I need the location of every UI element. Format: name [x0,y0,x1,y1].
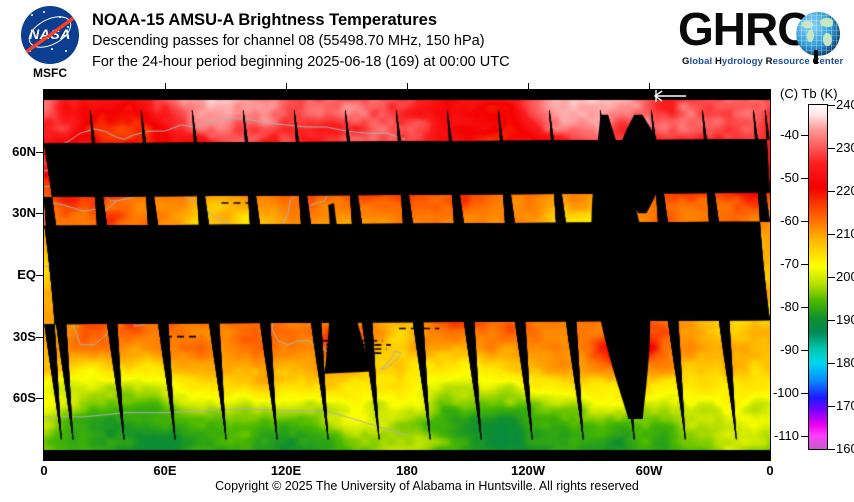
lon-tick [649,83,650,90]
colorbar-label-k-170: 170 [836,398,854,413]
colorbar-label-c--70: -70 [769,256,799,271]
nasa-logo: NASA MSFC [13,6,85,84]
nasa-center-label: MSFC [13,66,87,80]
page-title: NOAA-15 AMSU-A Brightness Temperatures [92,10,652,31]
colorbar-header: (C) Tb (K) [780,86,838,101]
colorbar-label-k-210: 210 [836,226,854,241]
ghrc-logo: GHRC Global Hydrology Resource Center [678,4,846,76]
colorbar-tick-kelvin [828,363,835,364]
colorbar-label-k-200: 200 [836,269,854,284]
nasa-meatball-icon: NASA [21,6,79,64]
lat-tick [36,398,43,399]
lat-label-60S: 60S [0,390,36,405]
colorbar-tick-kelvin [828,234,835,235]
colorbar-tick-kelvin [828,148,835,149]
colorbar-tick-celsius [801,436,808,437]
colorbar-tick-kelvin [828,277,835,278]
colorbar-label-k-180: 180 [836,355,854,370]
lat-tick [36,275,43,276]
lon-label-0: 0 [766,463,773,478]
colorbar-label-c--100: -100 [769,385,799,400]
copyright-notice: Copyright © 2025 The University of Alaba… [0,479,854,493]
colorbar-tick-kelvin [828,191,835,192]
brightness-temperature-map[interactable] [44,90,770,460]
colorbar-label-c--110: -110 [769,428,799,443]
lon-label-120E: 120E [271,463,301,478]
screenshot-root: NASA MSFC NOAA-15 AMSU-A Brightness Temp… [0,0,854,502]
lon-tick [407,83,408,90]
colorbar-tick-celsius [801,178,808,179]
colorbar-label-k-160: 160 [836,441,854,456]
lon-label-120W: 120W [511,463,545,478]
map-raster [44,90,770,460]
lon-tick [165,83,166,90]
colorbar-label-c--50: -50 [769,170,799,185]
colorbar-tick-celsius [801,393,808,394]
colorbar-label-c--90: -90 [769,342,799,357]
colorbar-tick-celsius [801,264,808,265]
nasa-swoosh-icon [21,10,79,60]
lat-label-60N: 60N [0,144,36,159]
lat-label-30S: 30S [0,329,36,344]
subtitle-period: For the 24-hour period beginning 2025-06… [92,52,652,73]
lon-label-60E: 60E [153,463,176,478]
lon-label-0: 0 [40,463,47,478]
colorbar-label-c--60: -60 [769,213,799,228]
lon-label-60W: 60W [636,463,663,478]
colorbar-label-k-220: 220 [836,183,854,198]
colorbar-tick-celsius [801,221,808,222]
title-block: NOAA-15 AMSU-A Brightness Temperatures D… [92,10,652,73]
colorbar-tick-celsius [801,350,808,351]
colorbar-label-k-240: 240 [836,97,854,112]
lat-label-EQ: EQ [0,267,36,282]
ghrc-wordmark: GHRC [678,4,809,54]
colorbar-label-k-230: 230 [836,140,854,155]
lon-tick [528,83,529,90]
lon-label-180: 180 [396,463,418,478]
colorbar-tick-kelvin [828,406,835,407]
colorbar-tick-celsius [801,135,808,136]
lat-tick [36,213,43,214]
colorbar-tick-kelvin [828,105,835,106]
ghrc-subtitle: Global Hydrology Resource Center [682,56,846,67]
colorbar-tick-kelvin [828,449,835,450]
colorbar [808,104,828,450]
colorbar-label-k-190: 190 [836,312,854,327]
pass-direction-arrow-icon [652,89,688,103]
lon-tick [286,83,287,90]
lat-tick [36,337,43,338]
colorbar-tick-kelvin [828,320,835,321]
lat-label-30N: 30N [0,205,36,220]
globe-icon [796,12,840,56]
lat-tick [36,152,43,153]
colorbar-label-c--80: -80 [769,299,799,314]
colorbar-label-c--40: -40 [769,127,799,142]
subtitle-channel: Descending passes for channel 08 (55498.… [92,31,652,52]
colorbar-tick-celsius [801,307,808,308]
